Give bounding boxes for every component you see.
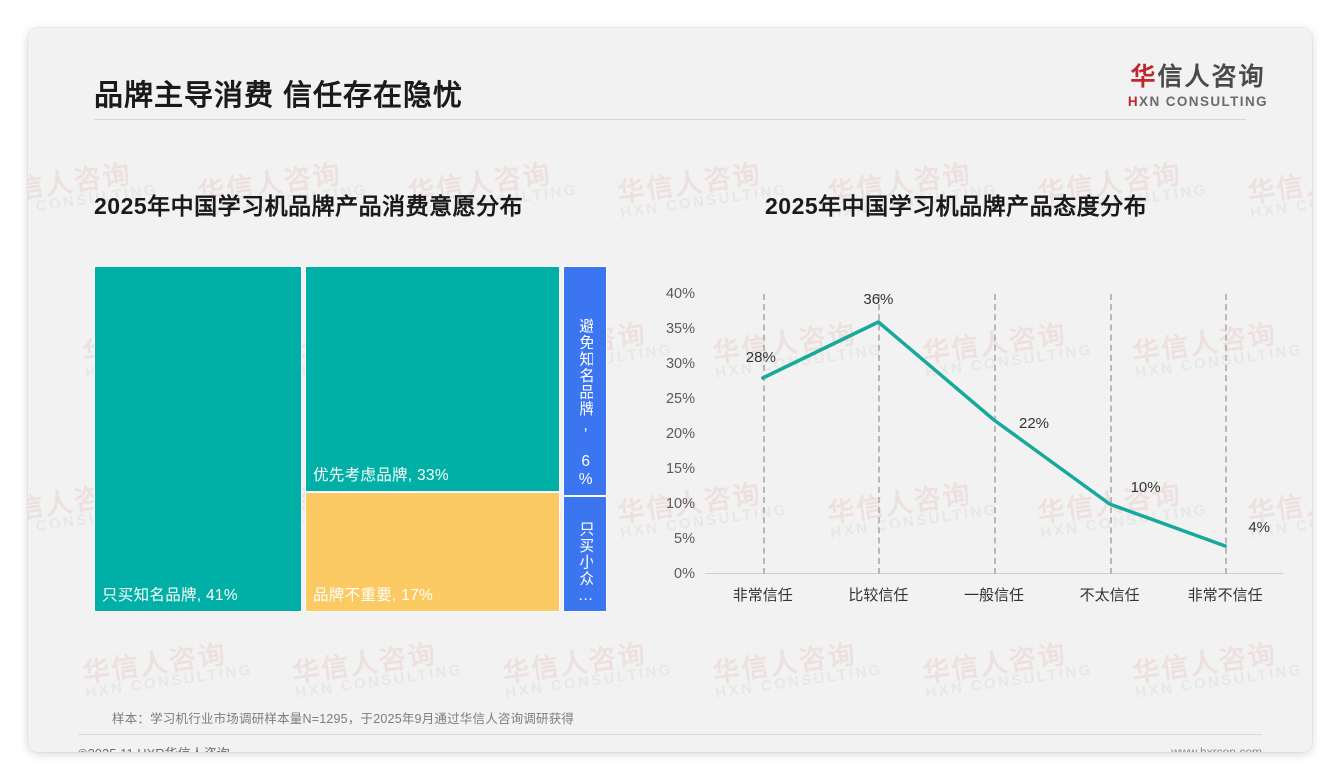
treemap-cell-label: 优先考虑品牌, 33% — [313, 463, 449, 485]
footer-divider — [78, 734, 1262, 735]
watermark-chinese: 华信人咨询 — [1131, 636, 1302, 688]
slide-card: 华信人咨询HXN CONSULTING华信人咨询HXN CONSULTING华信… — [28, 28, 1312, 752]
line-series-svg — [705, 266, 1283, 574]
y-axis-tick-label: 30% — [666, 356, 695, 372]
line-series-path — [763, 322, 1225, 546]
watermark-english: HXN CONSULTING — [295, 663, 464, 702]
watermark-tile: 华信人咨询HXN CONSULTING — [1246, 156, 1312, 221]
watermark-chinese: 华信人咨询 — [501, 636, 672, 688]
data-point-label: 22% — [1019, 415, 1049, 432]
watermark-tile: 华信人咨询HXN CONSULTING — [1131, 636, 1304, 701]
treemap-cell[interactable]: 只买知名品牌, 41% — [94, 266, 302, 612]
watermark-chinese: 华信人咨询 — [921, 636, 1092, 688]
x-axis-tick-label: 一般信任 — [964, 584, 1024, 605]
logo-rest-chars: 信人咨询 — [1157, 63, 1265, 91]
treemap-cell-label: 只买知名品牌, 41% — [102, 583, 238, 605]
watermark-tile: 华信人咨询HXN CONSULTING — [921, 636, 1094, 701]
treemap-column: 优先考虑品牌, 33%品牌不重要, 17% — [305, 266, 560, 612]
y-axis-tick-label: 15% — [666, 461, 695, 477]
logo-chinese-text: 华信人咨询 — [1128, 64, 1268, 92]
treemap-cell[interactable]: 品牌不重要, 17% — [305, 492, 560, 612]
treemap-chart: 只买知名品牌, 41%优先考虑品牌, 33%品牌不重要, 17%避免知名品牌, … — [94, 266, 607, 612]
treemap-cell-label: 只买小众… — [577, 521, 593, 605]
source-footnote: 样本：学习机行业市场调研样本量N=1295，于2025年9月通过华信人咨询调研获… — [112, 708, 574, 727]
website-url: www.hxrcon.com — [1171, 745, 1262, 752]
treemap-cell[interactable]: 避免知名品牌, 6% — [563, 266, 607, 496]
watermark-english: HXN CONSULTING — [1250, 183, 1312, 222]
treemap-cell[interactable]: 只买小众… — [563, 496, 607, 612]
copyright-text: ©2025.11 HXR华信人咨询 — [78, 743, 230, 752]
watermark-english: HXN CONSULTING — [925, 663, 1094, 702]
watermark-tile: 华信人咨询HXN CONSULTING — [81, 636, 254, 701]
data-point-label: 4% — [1248, 519, 1270, 536]
y-axis-tick-label: 35% — [666, 321, 695, 337]
treemap-cell-label: 品牌不重要, 17% — [313, 583, 433, 605]
line-chart: 0%5%10%15%20%25%30%35%40% 非常信任比较信任一般信任不太… — [643, 266, 1283, 616]
y-axis-tick-label: 5% — [674, 531, 695, 547]
watermark-chinese: 华信人咨询 — [616, 156, 787, 208]
data-point-label: 36% — [863, 291, 893, 308]
treemap-column: 只买知名品牌, 41% — [94, 266, 302, 612]
y-axis-tick-label: 0% — [674, 566, 695, 582]
watermark-english: HXN CONSULTING — [505, 663, 674, 702]
watermark-english: HXN CONSULTING — [85, 663, 254, 702]
treemap-chart-title: 2025年中国学习机品牌产品消费意愿分布 — [94, 187, 523, 221]
logo-en-rest: XN CONSULTING — [1139, 94, 1268, 109]
brand-logo: 华信人咨询 HXN CONSULTING — [1128, 64, 1268, 109]
logo-english-text: HXN CONSULTING — [1128, 94, 1268, 109]
y-axis-tick-label: 40% — [666, 286, 695, 302]
page-title: 品牌主导消费 信任存在隐忧 — [94, 72, 463, 114]
header-divider — [94, 119, 1246, 120]
watermark-tile: 华信人咨询HXN CONSULTING — [616, 156, 789, 221]
x-axis-tick-label: 非常不信任 — [1188, 584, 1263, 605]
treemap-cell-label: 避免知名品牌, 6% — [577, 318, 593, 489]
watermark-english: HXN CONSULTING — [1135, 663, 1304, 702]
watermark-english: HXN CONSULTING — [620, 183, 789, 222]
y-axis-tick-label: 25% — [666, 391, 695, 407]
y-axis-tick-label: 10% — [666, 496, 695, 512]
watermark-chinese: 华信人咨询 — [1246, 156, 1312, 208]
x-axis-tick-label: 比较信任 — [848, 584, 908, 605]
logo-accent-char: 华 — [1130, 63, 1157, 91]
y-axis-labels: 0%5%10%15%20%25%30%35%40% — [643, 266, 695, 616]
x-axis-tick-label: 非常信任 — [733, 584, 793, 605]
logo-en-accent: H — [1128, 94, 1139, 109]
watermark-tile: 华信人咨询HXN CONSULTING — [501, 636, 674, 701]
data-point-label: 28% — [746, 349, 776, 366]
watermark-chinese: 华信人咨询 — [711, 636, 882, 688]
watermark-tile: 华信人咨询HXN CONSULTING — [291, 636, 464, 701]
screenshot-root: 华信人咨询HXN CONSULTING华信人咨询HXN CONSULTING华信… — [0, 0, 1340, 780]
treemap-column: 避免知名品牌, 6%只买小众… — [563, 266, 607, 612]
watermark-chinese: 华信人咨询 — [81, 636, 252, 688]
x-axis-tick-label: 不太信任 — [1080, 584, 1140, 605]
slide-header: 品牌主导消费 信任存在隐忧 华信人咨询 HXN CONSULTING — [28, 28, 1312, 122]
y-axis-tick-label: 20% — [666, 426, 695, 442]
line-chart-title: 2025年中国学习机品牌产品态度分布 — [765, 187, 1147, 221]
watermark-chinese: 华信人咨询 — [291, 636, 462, 688]
data-point-label: 10% — [1131, 479, 1161, 496]
treemap-cell[interactable]: 优先考虑品牌, 33% — [305, 266, 560, 492]
watermark-english: HXN CONSULTING — [715, 663, 884, 702]
line-chart-plot-area: 非常信任比较信任一般信任不太信任非常不信任28%36%22%10%4% — [705, 266, 1283, 574]
watermark-tile: 华信人咨询HXN CONSULTING — [711, 636, 884, 701]
